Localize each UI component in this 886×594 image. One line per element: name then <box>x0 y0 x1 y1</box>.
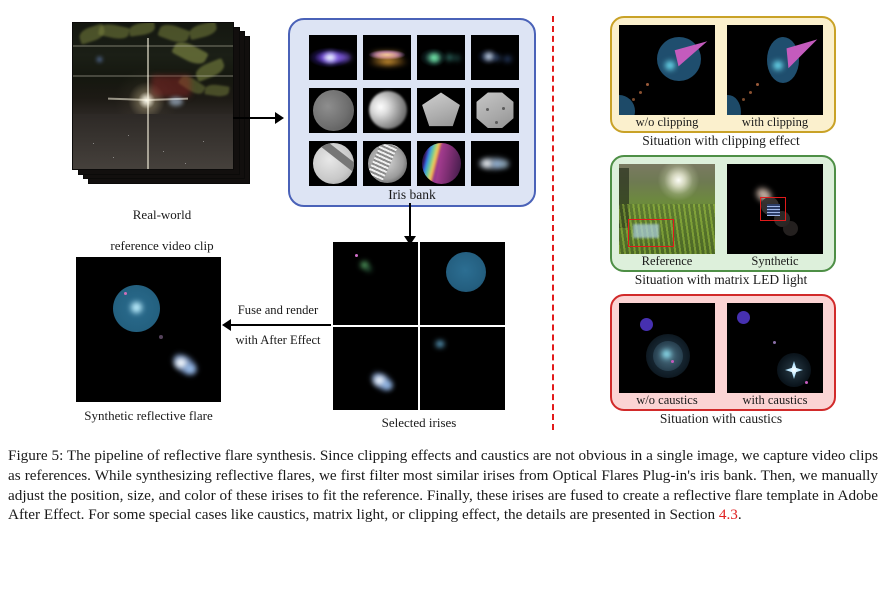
iris-thumb-3[interactable] <box>471 35 519 80</box>
situation-matrix-led-panel: Reference Synthetic <box>610 155 836 272</box>
figure-canvas: Real-world reference video clip <box>0 0 886 440</box>
arrow-bank-to-selected-shaft <box>409 203 411 239</box>
reference-frame-photo <box>72 22 234 170</box>
arrow-reference-to-bank-shaft <box>233 117 277 119</box>
iris-thumb-4[interactable] <box>309 88 357 133</box>
fuse-and-render-label: Fuse and render with After Effect <box>222 288 334 347</box>
selected-iris-cell-0[interactable] <box>333 242 418 325</box>
situation-caustics-caption: Situation with caustics <box>578 411 864 427</box>
iris-thumb-11[interactable] <box>471 141 519 186</box>
matrix-reference-annotation-box <box>628 219 674 247</box>
situation-clipping-panel: w/o clipping with clipping <box>610 16 836 133</box>
clipping-with-label: with clipping <box>727 115 823 130</box>
figure-caption-section-link[interactable]: 4.3 <box>719 506 738 523</box>
iris-bank-panel: Iris bank <box>288 18 536 207</box>
figure-caption-text: Figure 5: The pipeline of reflective fla… <box>8 447 878 523</box>
iris-thumb-8[interactable] <box>309 141 357 186</box>
clipping-without-label: w/o clipping <box>619 115 715 130</box>
reference-clip-label: Real-world reference video clip <box>62 192 262 253</box>
figure-caption: Figure 5: The pipeline of reflective fla… <box>8 446 878 525</box>
arrow-fuse-head <box>222 319 231 331</box>
caustics-without-image <box>619 303 715 393</box>
flare-dim-speck <box>159 335 163 339</box>
matrix-reference-image <box>619 164 715 254</box>
vertical-dashed-divider <box>552 16 554 430</box>
fuse-label-line1: Fuse and render <box>238 303 318 317</box>
selected-iris-cell-2[interactable] <box>333 327 418 410</box>
figure-caption-tail: . <box>738 506 742 523</box>
selected-irises-label: Selected irises <box>333 415 505 430</box>
selected-iris-cell-1[interactable] <box>420 242 505 325</box>
iris-thumb-2[interactable] <box>417 35 465 80</box>
iris-thumb-0[interactable] <box>309 35 357 80</box>
arrow-fuse-shaft <box>231 324 331 326</box>
flare-streak-tail <box>185 365 195 373</box>
selected-irises-grid <box>333 242 505 412</box>
flare-pink-speck <box>124 292 127 295</box>
flare-core <box>131 302 142 313</box>
situation-matrix-led-caption: Situation with matrix LED light <box>578 272 864 288</box>
caustics-without-label: w/o caustics <box>619 393 715 408</box>
iris-thumb-10[interactable] <box>417 141 465 186</box>
matrix-synthetic-label: Synthetic <box>727 254 823 269</box>
arrow-reference-to-bank-head <box>275 112 284 124</box>
iris-thumb-1[interactable] <box>363 35 411 80</box>
reference-label-line2: reference video clip <box>110 238 213 253</box>
iris-thumb-9[interactable] <box>363 141 411 186</box>
caustics-with-label: with caustics <box>727 393 823 408</box>
clipping-without-image <box>619 25 715 115</box>
synthetic-reflective-flare-image <box>76 257 221 402</box>
iris-thumb-6[interactable] <box>417 88 465 133</box>
situation-caustics-panel: w/o caustics with caustics <box>610 294 836 411</box>
synthetic-flare-label: Synthetic reflective flare <box>56 408 241 423</box>
selected-iris-cell-3[interactable] <box>420 327 505 410</box>
matrix-synthetic-image <box>727 164 823 254</box>
clipping-with-image <box>727 25 823 115</box>
iris-thumb-7[interactable] <box>471 88 519 133</box>
caustics-with-image <box>727 303 823 393</box>
situation-clipping-caption: Situation with clipping effect <box>578 133 864 149</box>
matrix-synthetic-annotation-box <box>760 197 786 221</box>
iris-thumb-5[interactable] <box>363 88 411 133</box>
iris-bank-label: Iris bank <box>290 187 534 203</box>
reference-video-clip-stack <box>72 22 250 184</box>
matrix-reference-label: Reference <box>619 254 715 269</box>
fuse-label-line2: with After Effect <box>235 333 320 347</box>
reference-label-line1: Real-world <box>133 207 191 222</box>
